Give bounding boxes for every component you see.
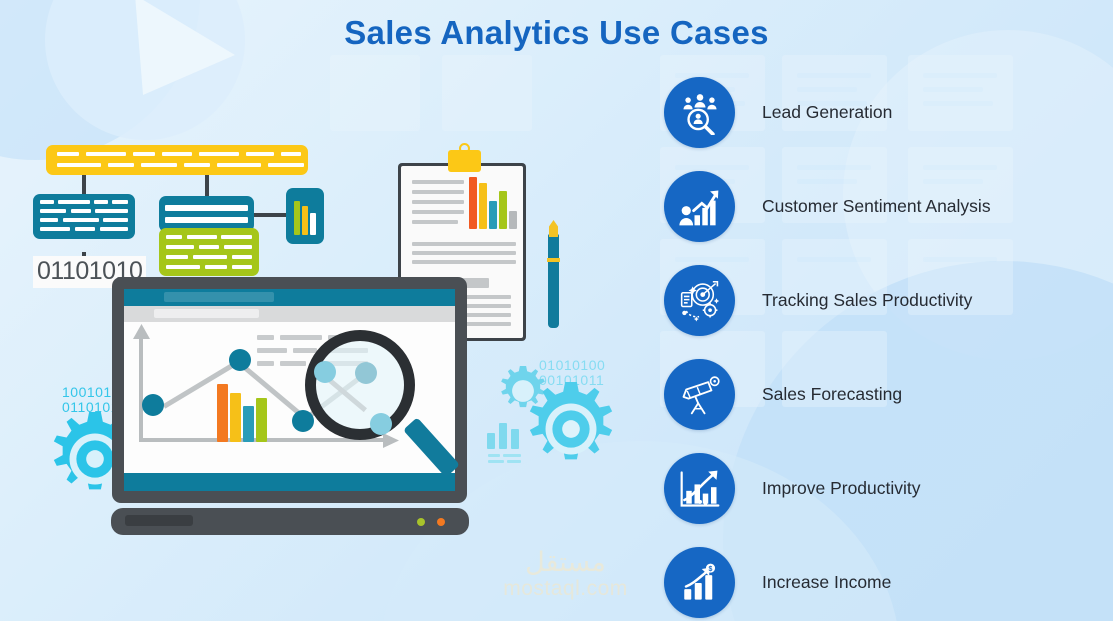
flow-connector-vertical-mid (205, 172, 209, 196)
bar (479, 183, 487, 229)
bar (499, 423, 507, 449)
use-case-label: Customer Sentiment Analysis (762, 196, 991, 217)
infographic-canvas: Sales Analytics Use Cases (0, 0, 1113, 621)
bar (243, 406, 254, 442)
target-dartboard-icon[interactable] (664, 265, 735, 336)
telescope-icon[interactable] (664, 359, 735, 430)
laptop-trackpad (125, 515, 193, 526)
fountain-pen-icon (547, 220, 560, 328)
flow-box-teal-mid (159, 196, 254, 232)
cyan-bar-chart (487, 415, 527, 463)
use-case-item[interactable]: Improve Productivity (664, 450, 1104, 527)
flow-box-teal-left (33, 194, 135, 239)
flow-box-yellow (46, 145, 308, 175)
use-case-item[interactable]: $ Increase Income (664, 544, 1104, 621)
use-case-item[interactable]: Lead Generation (664, 74, 1104, 151)
magnifier-handle (403, 417, 460, 477)
bar-chart-dollar-arrow-icon[interactable]: $ (664, 547, 735, 618)
flow-box-bar-chart (294, 197, 318, 235)
clipboard-clip-ring (459, 143, 470, 154)
use-case-label: Improve Productivity (762, 478, 921, 499)
flow-connector-horizontal (252, 213, 286, 217)
use-case-label: Lead Generation (762, 102, 892, 123)
bar (489, 201, 497, 229)
magnifier-icon (305, 330, 475, 520)
use-case-label: Increase Income (762, 572, 891, 593)
analytics-illustration: 01101010 100101010 011010100 01010100 00… (0, 0, 660, 621)
bar (487, 433, 495, 449)
chart-y-axis (139, 336, 143, 442)
chart-data-point (229, 349, 251, 371)
bar (230, 393, 241, 442)
bar (302, 206, 308, 235)
magnifier-lens (305, 330, 415, 440)
flow-connector-vertical-left (82, 172, 86, 196)
watermark-arabic: مستقل (478, 548, 653, 578)
bar (217, 384, 228, 442)
use-case-item[interactable]: Tracking Sales Productivity (664, 262, 1104, 339)
watermark-domain: mostaql.com (478, 578, 653, 600)
use-case-item[interactable]: Customer Sentiment Analysis (664, 168, 1104, 245)
chart-data-point (142, 394, 164, 416)
svg-text:$: $ (708, 566, 712, 573)
clipboard-bar-chart (469, 191, 517, 229)
flow-box-teal-chart (286, 188, 324, 244)
bar (310, 213, 316, 235)
people-magnifier-icon[interactable] (664, 77, 735, 148)
bar (294, 201, 300, 235)
bar (256, 398, 267, 442)
bar (499, 191, 507, 229)
bar (511, 429, 519, 449)
chart-y-axis-arrow (133, 324, 150, 340)
use-cases-list: Lead Generation Customer Sentiment Analy… (664, 74, 1104, 621)
flow-box-green (159, 228, 259, 276)
person-bar-chart-arrow-icon[interactable] (664, 171, 735, 242)
bar (509, 211, 517, 229)
use-case-item[interactable]: Sales Forecasting (664, 356, 1104, 433)
watermark: مستقل mostaql.com (478, 548, 653, 600)
laptop-bar-chart (217, 380, 269, 442)
gear-icon-large-right (522, 380, 620, 478)
growth-bar-chart-arrow-icon[interactable] (664, 453, 735, 524)
use-case-label: Tracking Sales Productivity (762, 290, 972, 311)
bar (469, 177, 477, 229)
use-case-label: Sales Forecasting (762, 384, 902, 405)
